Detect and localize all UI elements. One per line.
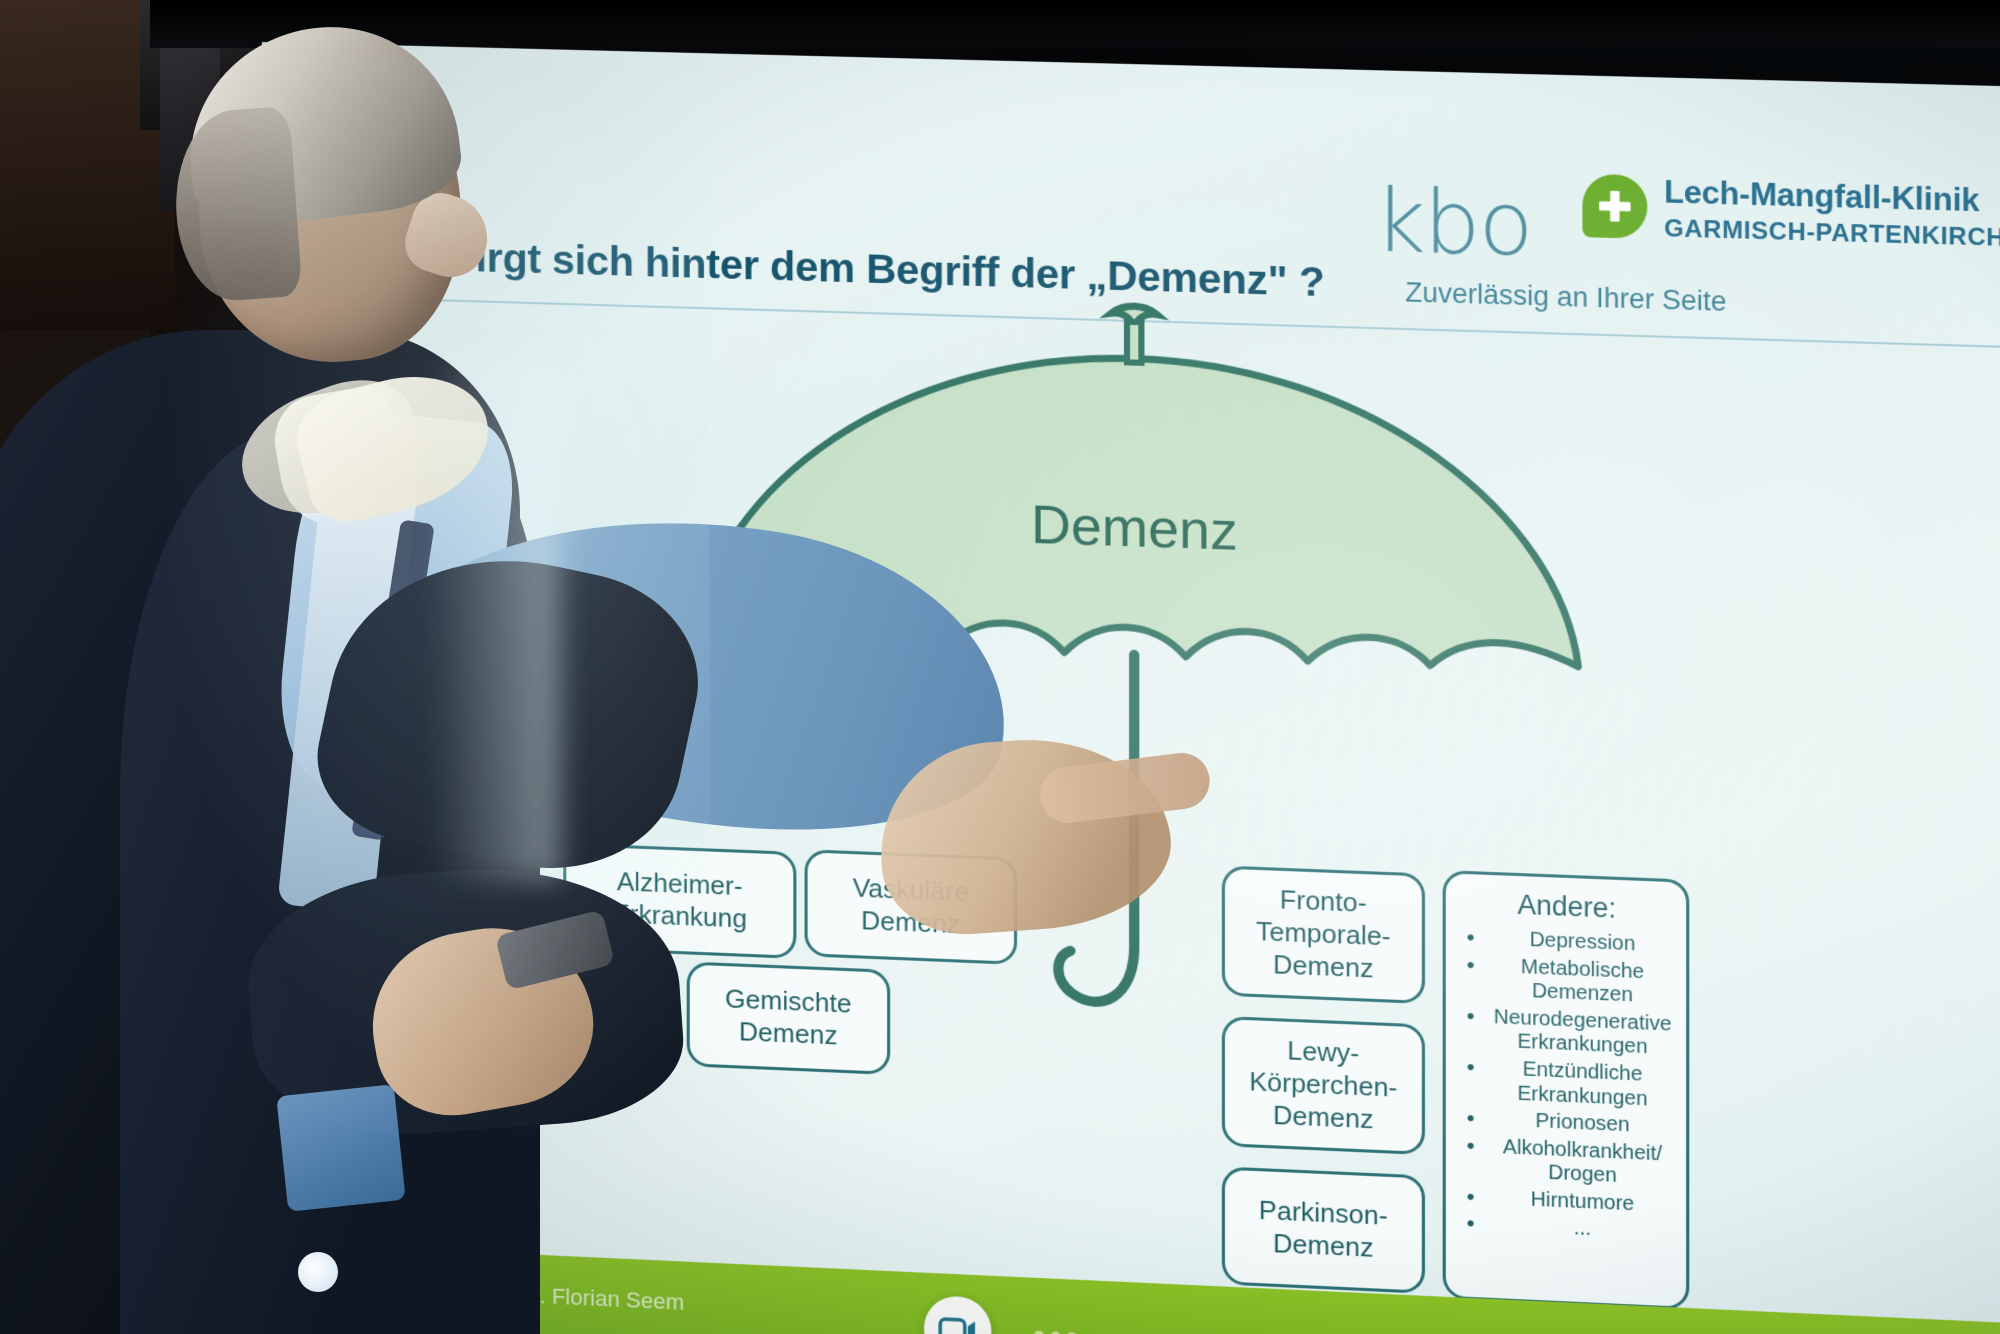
box-line: Demenz (1256, 948, 1391, 986)
more-options-icon[interactable] (1026, 1308, 1084, 1334)
kbo-logo: kbo Lech-Mangfall-Klinik GARMISCH-PARTEN… (1374, 150, 2000, 322)
box-line: Demenz (1259, 1227, 1388, 1265)
video-camera-glyph (938, 1316, 977, 1334)
box-andere: Andere: Depression Metabolische Demenzen… (1443, 870, 1690, 1310)
box-line: Fronto- (1256, 884, 1391, 922)
slide-surface: erbirgt sich hinter dem Begriff der „Dem… (262, 42, 2000, 1334)
box-line: Gemischte (725, 983, 851, 1020)
box-line: Demenz (853, 905, 969, 942)
box-line: Demenz (725, 1015, 851, 1052)
wall-panel-left-lower (0, 330, 150, 1334)
list-item: Metabolische Demenzen (1458, 953, 1675, 1010)
slide-footer: ken gGmbH – Prof. Dr. Florian Seem | Feb… (262, 1242, 2000, 1334)
box-alzheimer: Alzheimer- Erkrankung (563, 843, 796, 959)
kbo-wordmark: kbo (1374, 182, 1531, 265)
box-line: Temporale- (1256, 916, 1391, 954)
box-line: Demenz (1249, 1098, 1397, 1137)
clinic-location: GARMISCH-PARTENKIRCHEN (1664, 215, 2000, 254)
projection-screen: erbirgt sich hinter dem Begriff der „Dem… (262, 42, 2000, 1334)
footer-presenter: ken gGmbH – Prof. Dr. Florian Seem (322, 1273, 684, 1316)
box-vaskulaere-demenz: Vaskuläre Demenz (805, 849, 1018, 965)
box-gemischte-demenz: Gemischte Demenz (687, 961, 890, 1075)
andere-list: Depression Metabolische Demenzen Neurode… (1458, 926, 1675, 1246)
box-parkinson-demenz: Parkinson- Demenz (1222, 1166, 1425, 1293)
box-line: Körperchen- (1249, 1066, 1397, 1105)
list-item: Entzündliche Erkrankungen (1458, 1055, 1675, 1113)
box-lewy-koerperchen-demenz: Lewy- Körperchen- Demenz (1222, 1016, 1425, 1155)
andere-title: Andere: (1458, 886, 1675, 928)
box-line: Alzheimer- (612, 866, 747, 903)
dark-top-band (150, 0, 2000, 48)
box-frontotemporale-demenz: Fronto- Temporale- Demenz (1222, 865, 1425, 1004)
list-item: Neurodegenerative Erkrankungen (1458, 1004, 1675, 1061)
clinic-name: Lech-Mangfall-Klinik (1664, 174, 1979, 220)
list-item: Alkoholkrankheit/ Drogen (1458, 1134, 1675, 1192)
screenshot-root: erbirgt sich hinter dem Begriff der „Dem… (0, 0, 2000, 1334)
box-line: Vaskuläre (853, 873, 969, 910)
box-line: Erkrankung (612, 898, 747, 935)
medical-cross-icon (1582, 174, 1647, 239)
